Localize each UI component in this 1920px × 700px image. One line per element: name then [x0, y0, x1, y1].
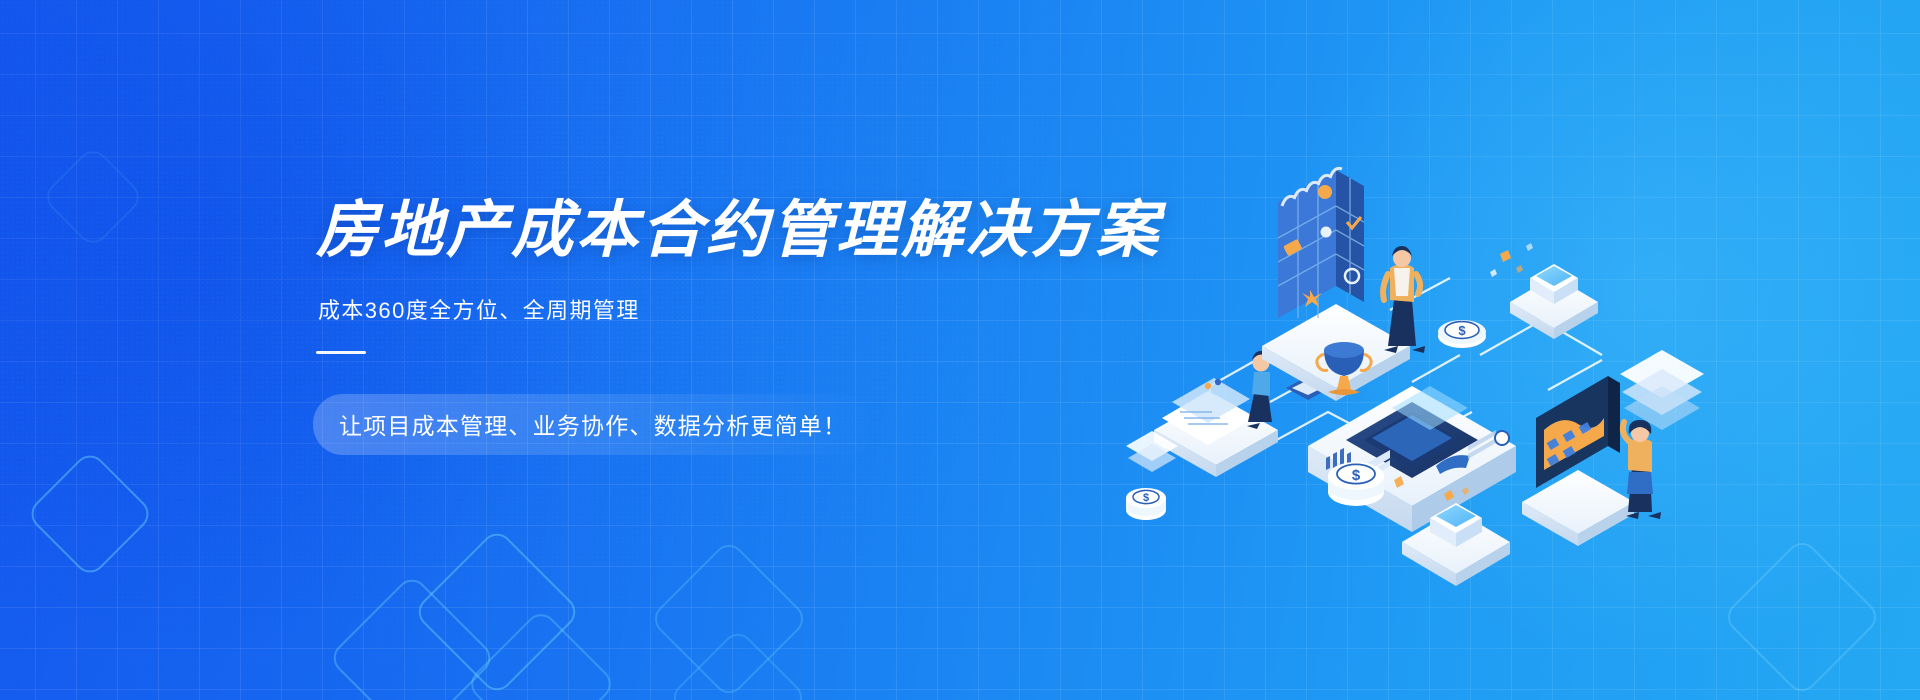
- page-title: 房地产成本合约管理解决方案: [316, 196, 1076, 265]
- svg-text:$: $: [1458, 323, 1466, 338]
- hero-text-block: 房地产成本合约管理解决方案 成本360度全方位、全周期管理 让项目成本管理、业务…: [316, 196, 1076, 455]
- svg-text:$: $: [1143, 492, 1149, 504]
- title-divider: [316, 351, 366, 354]
- cube-node-upper: [1510, 264, 1598, 339]
- dashboard-screen-platform: [1522, 376, 1634, 546]
- stacked-cards: [1620, 350, 1704, 430]
- businessman-figure: [1383, 246, 1425, 353]
- coin-stack: $: [1328, 462, 1384, 506]
- hero-illustration: $: [1150, 150, 1710, 580]
- coin-icon-top: $: [1438, 320, 1486, 348]
- hero-banner: 房地产成本合约管理解决方案 成本360度全方位、全周期管理 让项目成本管理、业务…: [0, 0, 1920, 700]
- hero-tagline-badge: 让项目成本管理、业务协作、数据分析更简单！: [313, 394, 875, 455]
- confetti-shapes: [1490, 243, 1533, 277]
- hero-subtitle: 成本360度全方位、全周期管理: [318, 293, 1076, 325]
- svg-text:$: $: [1352, 467, 1361, 484]
- central-server-device: [1308, 386, 1516, 532]
- coin-icon-small: $: [1126, 488, 1166, 520]
